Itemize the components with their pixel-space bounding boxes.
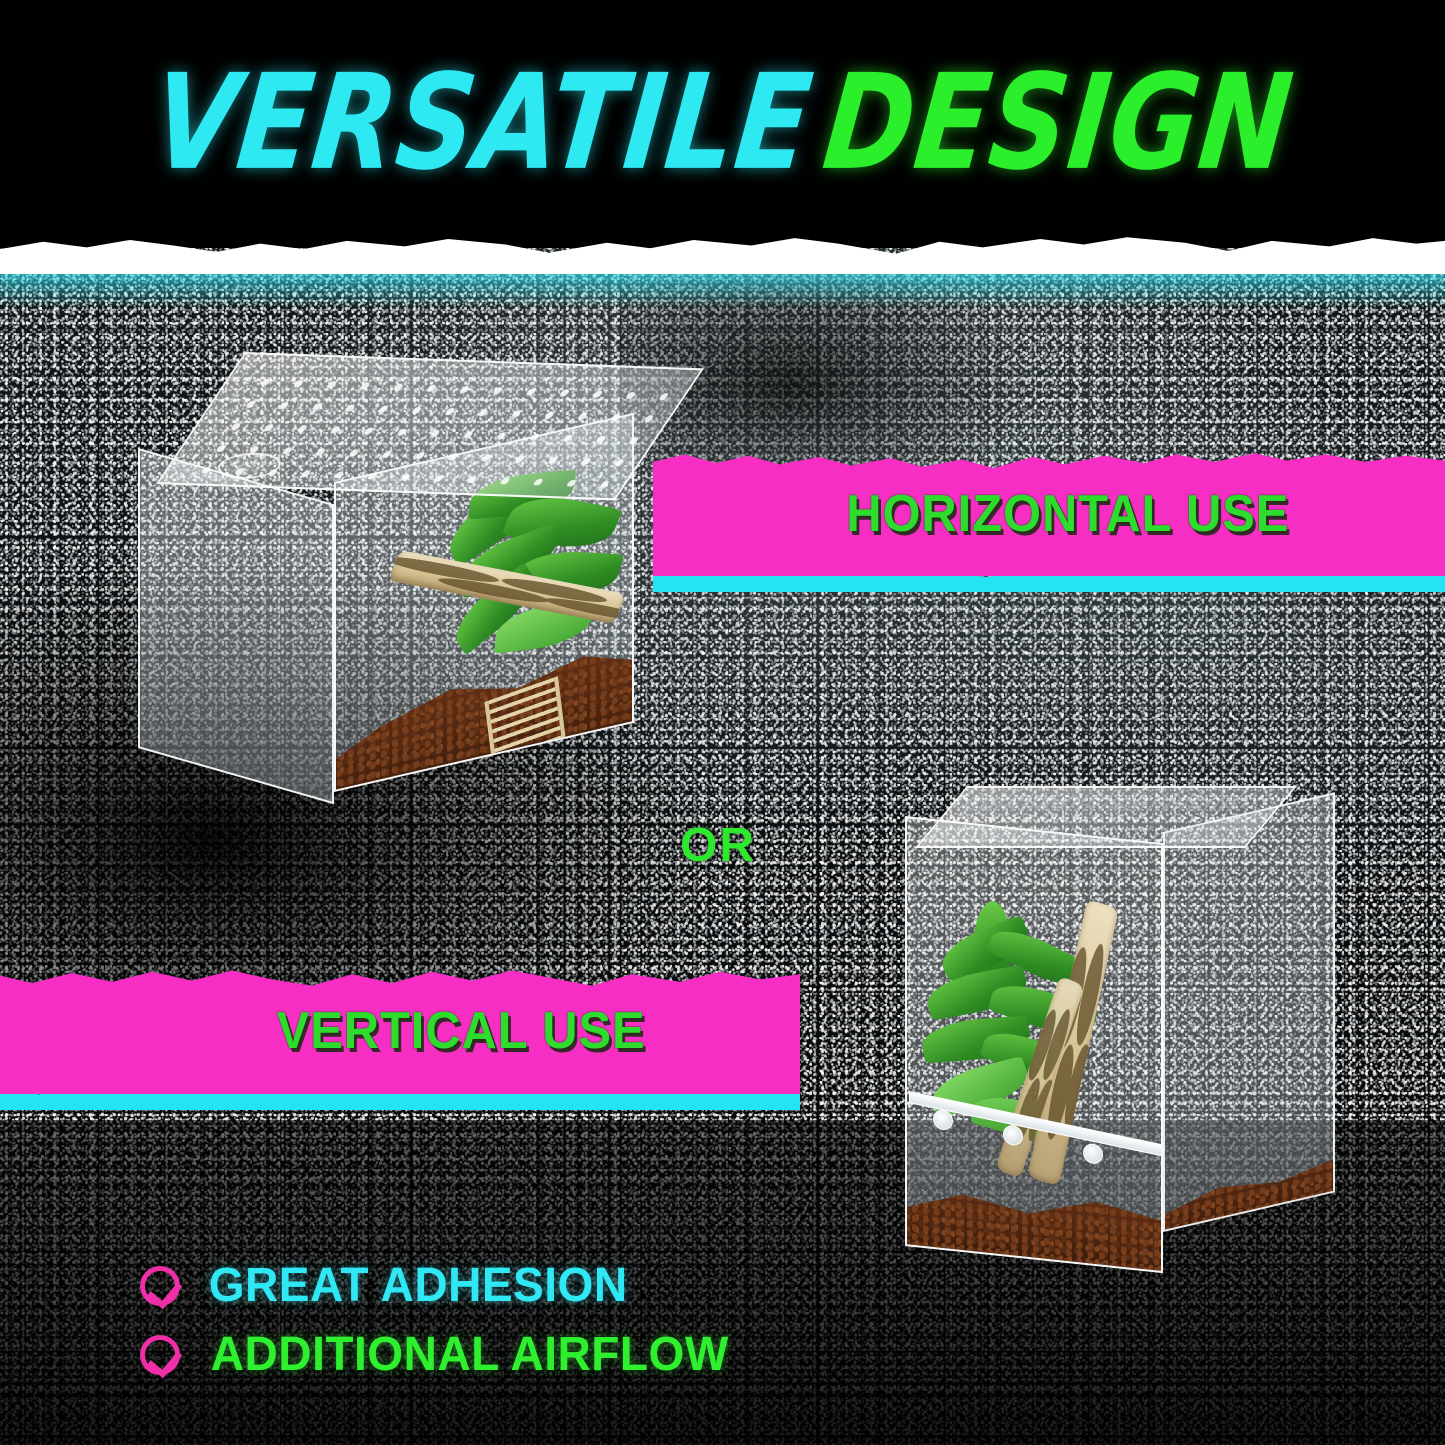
feature-list: GREAT ADHESION ADDITIONAL AIRFLOW [140,1258,740,1396]
or-connector-label: OR [680,818,756,873]
check-circle-icon [140,1266,180,1306]
feature-label-airflow: ADDITIONAL AIRFLOW [211,1327,729,1382]
torn-paper-edge-top [0,228,1445,314]
top-vent-slots [961,796,1246,812]
enclosure-front-panel [905,816,1163,1273]
vertical-enclosure-image [905,786,1335,1264]
banner-horizontal-use: HORIZONTAL USE [653,452,1445,576]
banner-horizontal-label: HORIZONTAL USE [677,452,1421,576]
torn-edge-white-paper [0,228,1445,274]
list-item: GREAT ADHESION [140,1258,740,1313]
list-item: ADDITIONAL AIRFLOW [140,1327,740,1382]
enclosure-top-panel [915,786,1297,848]
substrate-bedding [1163,1131,1335,1232]
feature-label-adhesion: GREAT ADHESION [209,1258,628,1313]
page-title: VERSATILEDESIGN [0,70,1445,178]
enclosure-top-panel [156,352,704,500]
title-part-versatile: VERSATILE [147,58,818,190]
check-circle-icon [140,1335,180,1375]
title-part-design: DESIGN [818,58,1298,190]
side-vent-holes [1189,873,1299,1068]
enclosure-left-panel [138,448,334,804]
banner-vertical-label: VERTICAL USE [24,968,776,1094]
infographic-stage: VERSATILEDESIGN [0,0,1445,1445]
banner-vertical-use: VERTICAL USE [0,968,800,1094]
enclosure-right-panel [1163,792,1335,1232]
horizontal-enclosure-image [138,352,678,822]
